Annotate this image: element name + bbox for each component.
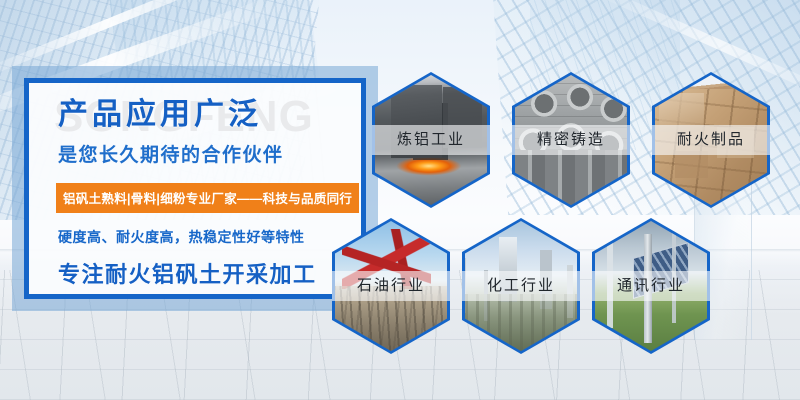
hex-label: 耐火制品 <box>652 125 770 155</box>
hex-label: 石油行业 <box>332 271 450 301</box>
hex-label: 通讯行业 <box>592 271 710 301</box>
hex-label: 化工行业 <box>462 271 580 301</box>
subtitle: 是您长久期待的合作伙伴 <box>44 130 384 167</box>
hex-tile-communications-industry[interactable]: 通讯行业 <box>592 218 710 354</box>
page-title: 产品应用广泛 <box>44 86 384 130</box>
tagline-badge: 铝矾土熟料|骨料|细粉专业厂家——科技与品质同行 <box>56 183 359 213</box>
hex-tile-refractory-products[interactable]: 耐火制品 <box>652 72 770 208</box>
promotional-banner: SONGFENG 产品应用广泛 是您长久期待的合作伙伴 铝矾土熟料|骨料|细粉专… <box>0 0 800 400</box>
hex-tile-oil-industry[interactable]: 石油行业 <box>332 218 450 354</box>
hex-label: 精密铸造 <box>512 125 630 155</box>
hex-tile-aluminium-smelting[interactable]: 炼铝工业 <box>372 72 490 208</box>
hex-label: 炼铝工业 <box>372 125 490 155</box>
hex-tile-chemical-industry[interactable]: 化工行业 <box>462 218 580 354</box>
hex-tile-precision-casting[interactable]: 精密铸造 <box>512 72 630 208</box>
